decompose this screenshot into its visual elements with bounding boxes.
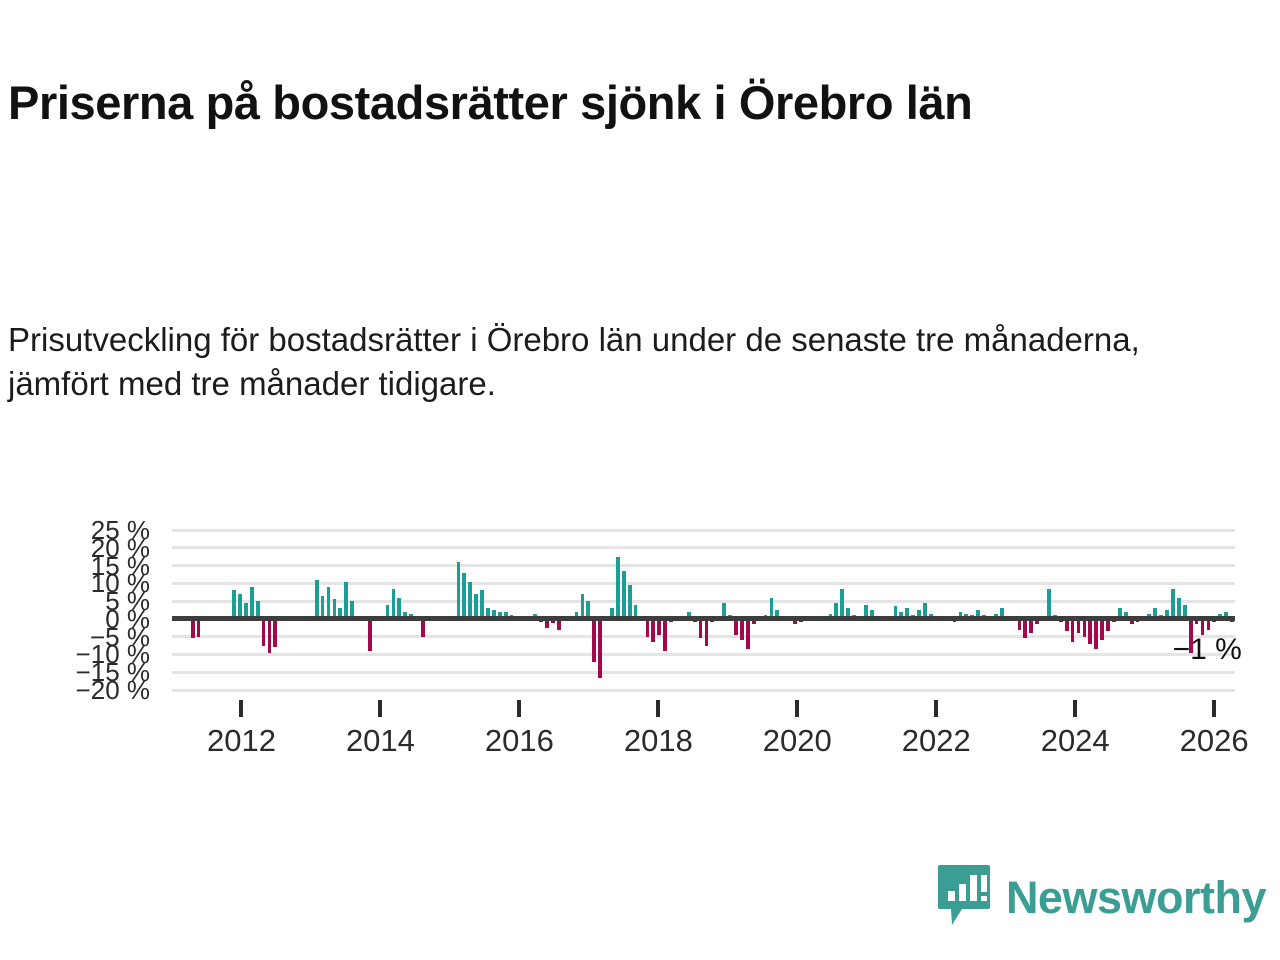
x-axis-tick-label: 2020 [763,723,832,759]
x-axis-tick-label: 2018 [624,723,693,759]
bar [1023,619,1027,639]
page-title: Priserna på bostadsrätter sjönk i Örebro… [8,75,1238,130]
bar [232,590,236,618]
bar [1171,589,1175,619]
bar [740,619,744,640]
bar [1094,619,1098,649]
bar [468,582,472,619]
bar [622,571,626,619]
bar [592,619,596,662]
bar [616,557,620,619]
bar [746,619,750,649]
x-axis-tick-label: 2024 [1041,723,1110,759]
bar [480,590,484,618]
bar [238,594,242,619]
chart-subtitle: Prisutveckling för bostadsrätter i Örebr… [8,318,1198,406]
x-axis-tick-mark [795,700,799,717]
x-axis-tick-mark [1212,700,1216,717]
bar [457,562,461,619]
x-axis-tick-mark [934,700,938,717]
bar-chart-speech-bubble-icon [936,863,992,932]
bar [315,580,319,619]
x-axis-tick-label: 2012 [207,723,276,759]
annotation-label: −1 % [1173,633,1242,667]
bar-series [172,530,1235,690]
y-axis: 25 %20 %15 %10 %5 %0 %−5 %−10 %−15 %−20 … [0,530,160,690]
bar [1088,619,1092,644]
bar [699,619,703,639]
x-axis-tick-label: 2022 [902,723,971,759]
x-axis-tick-mark [656,700,660,717]
bar [462,573,466,619]
x-axis: 20122014201620182020202220242026 [172,690,1235,750]
newsworthy-logo[interactable]: Newsworthy [936,863,1266,932]
y-axis-tick-label: −20 % [76,677,150,703]
bar [197,619,201,637]
bar-chart: 25 %20 %15 %10 %5 %0 %−5 %−10 %−15 %−20 … [0,530,1280,755]
bar [840,589,844,619]
bar [262,619,266,646]
bar [598,619,602,678]
bar [1071,619,1075,642]
bar [344,582,348,619]
plot-area: −1 % [172,530,1235,690]
x-axis-tick-mark [239,700,243,717]
bar [250,587,254,619]
zero-baseline [172,616,1235,621]
x-axis-tick-label: 2014 [346,723,415,759]
bar [474,594,478,619]
x-axis-tick-label: 2016 [485,723,554,759]
x-axis-tick-mark [517,700,521,717]
bar [705,619,709,646]
x-axis-tick-mark [1073,700,1077,717]
bar [327,587,331,619]
bar [651,619,655,642]
bar [368,619,372,651]
bar [268,619,272,653]
logo-wordmark: Newsworthy [1006,875,1266,920]
bar [628,585,632,619]
x-axis-tick-mark [378,700,382,717]
bar [191,619,195,639]
bar [646,619,650,637]
bar [581,594,585,619]
bar [1100,619,1104,640]
bar [273,619,277,647]
bar [421,619,425,637]
infographic-page: Priserna på bostadsrätter sjönk i Örebro… [0,0,1280,960]
x-axis-tick-label: 2026 [1180,723,1249,759]
bar [392,589,396,619]
bar [663,619,667,651]
bar [1047,589,1051,619]
bar [1083,619,1087,637]
